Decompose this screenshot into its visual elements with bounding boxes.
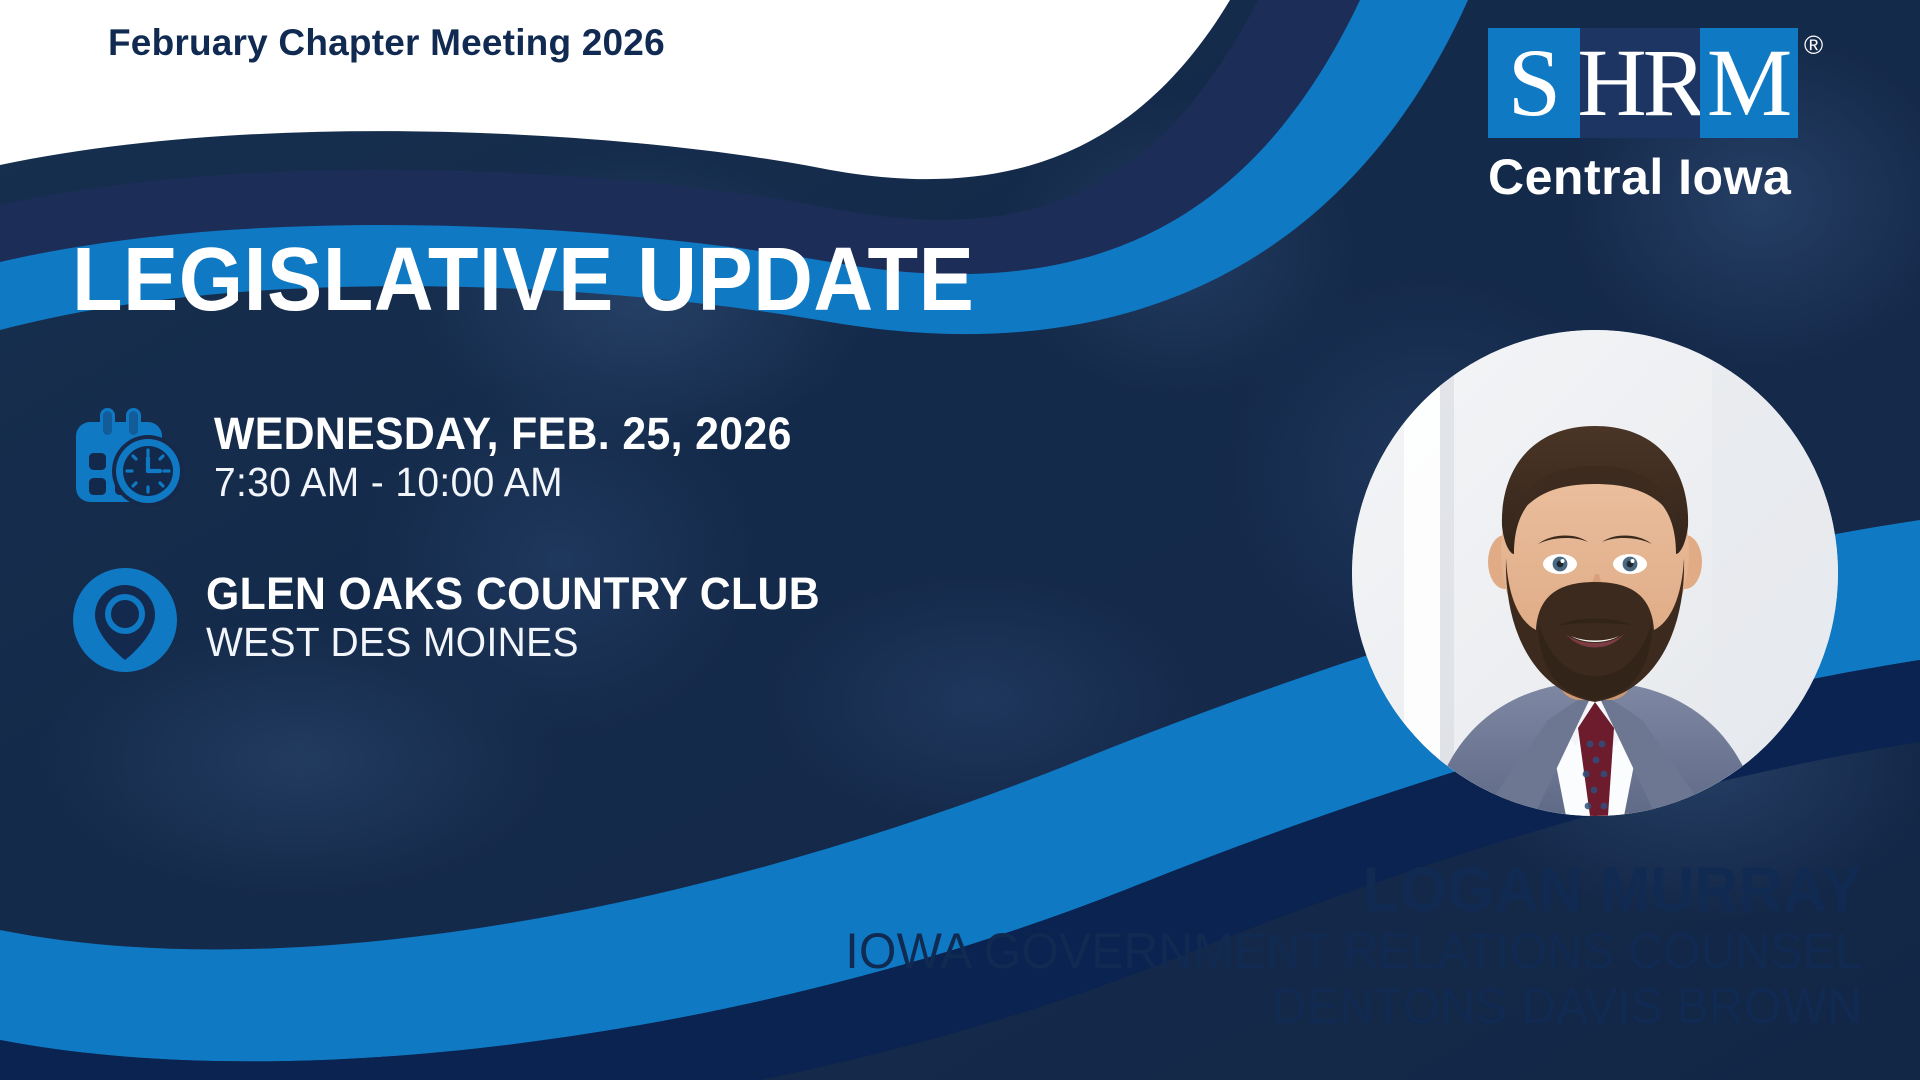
registered-trademark-icon: ® [1804, 32, 1823, 58]
venue-name: GLEN OAKS COUNTRY CLUB [206, 570, 820, 618]
event-location-row: GLEN OAKS COUNTRY CLUB WEST DES MOINES [70, 568, 852, 672]
speaker-avatar [1352, 330, 1838, 816]
location-pin-icon [70, 568, 180, 672]
event-location-text: GLEN OAKS COUNTRY CLUB WEST DES MOINES [206, 568, 852, 666]
page-title: LEGISLATIVE UPDATE [72, 235, 974, 325]
event-flyer: February Chapter Meeting 2026 S HR M ® C… [0, 0, 1920, 1080]
shrm-logo: S HR M ® Central Iowa [1488, 28, 1818, 202]
shrm-letter-m: M [1700, 28, 1798, 138]
event-date-row: WEDNESDAY, FEB. 25, 2026 7:30 AM - 10:00… [70, 408, 822, 508]
shrm-letter-s: S [1488, 28, 1580, 138]
speaker-title: IOWA GOVERNMENT RELATIONS COUNSEL [845, 924, 1862, 979]
shrm-wordmark: S HR M ® [1488, 28, 1798, 138]
venue-city: WEST DES MOINES [206, 618, 820, 666]
meeting-eyebrow: February Chapter Meeting 2026 [108, 22, 665, 64]
chapter-name: Central Iowa [1488, 152, 1818, 202]
event-date-text: WEDNESDAY, FEB. 25, 2026 7:30 AM - 10:00… [214, 408, 822, 506]
event-date: WEDNESDAY, FEB. 25, 2026 [214, 410, 792, 458]
speaker-name: LOGAN MURRAY [845, 858, 1862, 924]
event-time: 7:30 AM - 10:00 AM [214, 458, 792, 506]
speaker-organization: DENTONS DAVIS BROWN [845, 979, 1862, 1034]
calendar-clock-icon [70, 408, 188, 508]
speaker-caption: LOGAN MURRAY IOWA GOVERNMENT RELATIONS C… [803, 858, 1862, 1034]
speaker-photo [1352, 330, 1838, 816]
shrm-letter-hr: HR [1580, 28, 1700, 138]
